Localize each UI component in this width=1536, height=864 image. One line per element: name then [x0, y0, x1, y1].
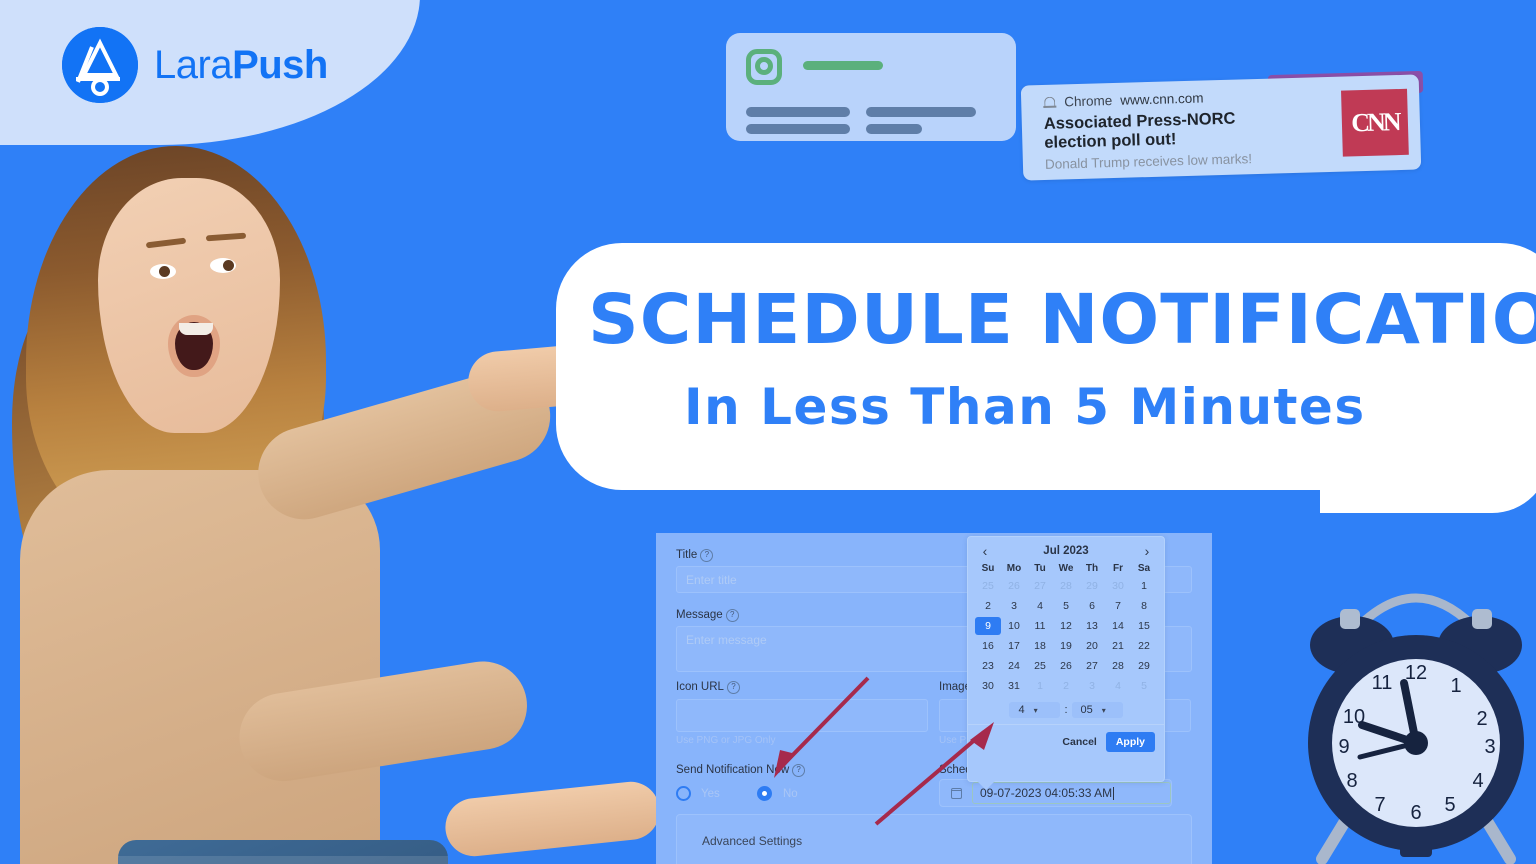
- icon-url-field-label: Icon URL?: [676, 681, 740, 694]
- weekday-sa: Sa: [1131, 560, 1157, 577]
- day-cell[interactable]: 2: [975, 597, 1001, 615]
- svg-text:1: 1: [1450, 675, 1461, 697]
- hero-bubble-tail: [1320, 455, 1536, 513]
- day-cell[interactable]: 22: [1131, 637, 1157, 655]
- cancel-button[interactable]: Cancel: [1062, 736, 1096, 748]
- hour-select[interactable]: 4▾: [1009, 702, 1060, 718]
- day-cell[interactable]: 27: [1027, 577, 1053, 595]
- chevron-down-icon: ▾: [1102, 706, 1106, 715]
- day-cell[interactable]: 16: [975, 637, 1001, 655]
- help-circle-icon[interactable]: ?: [726, 609, 739, 622]
- weekday-fr: Fr: [1105, 560, 1131, 577]
- chevron-down-icon: ▾: [1034, 706, 1038, 715]
- excited-woman-photo: [0, 140, 510, 864]
- larapush-logo-icon: [62, 27, 138, 103]
- advanced-settings-label: Advanced Settings: [702, 834, 802, 848]
- help-circle-icon[interactable]: ?: [700, 549, 713, 562]
- bell-icon: [1043, 95, 1056, 110]
- day-cell[interactable]: 17: [1001, 637, 1027, 655]
- datepicker-month-label: Jul 2023: [1043, 545, 1088, 557]
- placeholder-title-bar: [803, 61, 883, 70]
- day-cell[interactable]: 11: [1027, 617, 1053, 635]
- weekday-we: We: [1053, 560, 1079, 577]
- time-separator: :: [1064, 704, 1067, 716]
- message-field-label: Message?: [676, 609, 739, 622]
- svg-text:4: 4: [1472, 770, 1483, 792]
- day-cell[interactable]: 7: [1105, 597, 1131, 615]
- radio-send-now-no[interactable]: [757, 786, 772, 801]
- day-cell[interactable]: 9: [975, 617, 1001, 635]
- hero-headline: SCHEDULE NOTIFICATIONS: [588, 286, 1486, 355]
- day-cell[interactable]: 28: [1105, 657, 1131, 675]
- title-input-placeholder: Enter title: [686, 573, 737, 587]
- arrow-to-datepicker: [866, 718, 1001, 833]
- svg-text:6: 6: [1410, 802, 1421, 824]
- svg-text:5: 5: [1444, 794, 1455, 816]
- day-cell[interactable]: 5: [1131, 677, 1157, 695]
- day-cell[interactable]: 26: [1053, 657, 1079, 675]
- brand-name-bold: Push: [232, 43, 328, 87]
- help-circle-icon[interactable]: ?: [727, 681, 740, 694]
- brand-logo[interactable]: LaraPush: [62, 27, 328, 103]
- day-cell[interactable]: 25: [975, 577, 1001, 595]
- weekday-su: Su: [975, 560, 1001, 577]
- brand-name-light: Lara: [154, 43, 232, 87]
- svg-text:11: 11: [1372, 672, 1393, 694]
- day-cell[interactable]: 30: [975, 677, 1001, 695]
- arrow-to-send-notification-now: [760, 670, 880, 785]
- poster-canvas: LaraPush Chrome www.: [0, 0, 1536, 864]
- day-cell[interactable]: 29: [1079, 577, 1105, 595]
- schedule-datetime-input[interactable]: 09-07-2023 04:05:33 AM: [972, 782, 1171, 804]
- day-cell[interactable]: 30: [1105, 577, 1131, 595]
- datepicker-day-grid[interactable]: 2526272829301234567891011121314151617181…: [968, 577, 1164, 695]
- day-cell[interactable]: 20: [1079, 637, 1105, 655]
- day-cell[interactable]: 29: [1131, 657, 1157, 675]
- svg-text:8: 8: [1346, 770, 1357, 792]
- day-cell[interactable]: 1: [1027, 677, 1053, 695]
- day-cell[interactable]: 4: [1027, 597, 1053, 615]
- weekday-mo: Mo: [1001, 560, 1027, 577]
- alarm-clock-icon: 12 1 2 3 4 5 6 7 8 9 10 11: [1300, 575, 1532, 864]
- cnn-notification-card[interactable]: Chrome www.cnn.com Associated Press-NORC…: [1021, 74, 1421, 180]
- notification-source: Chrome: [1064, 93, 1112, 109]
- svg-text:3: 3: [1484, 736, 1495, 758]
- datepicker-header: ‹ Jul 2023 ›: [968, 537, 1164, 560]
- title-field-label: Title?: [676, 549, 713, 562]
- weekday-th: Th: [1079, 560, 1105, 577]
- day-cell[interactable]: 10: [1001, 617, 1027, 635]
- radio-send-now-yes[interactable]: [676, 786, 691, 801]
- day-cell[interactable]: 18: [1027, 637, 1053, 655]
- notification-card-placeholder: [726, 33, 1016, 141]
- day-cell[interactable]: 3: [1079, 677, 1105, 695]
- day-cell[interactable]: 31: [1001, 677, 1027, 695]
- day-cell[interactable]: 21: [1105, 637, 1131, 655]
- cnn-logo-icon: CNN: [1341, 89, 1409, 157]
- day-cell[interactable]: 1: [1131, 577, 1157, 595]
- cnn-logo-text: CNN: [1351, 107, 1399, 138]
- minute-select[interactable]: 05▾: [1072, 702, 1123, 718]
- chevron-left-icon[interactable]: ‹: [978, 544, 992, 558]
- day-cell[interactable]: 25: [1027, 657, 1053, 675]
- day-cell[interactable]: 15: [1131, 617, 1157, 635]
- radio-yes-label: Yes: [701, 788, 720, 800]
- day-cell[interactable]: 26: [1001, 577, 1027, 595]
- notification-url: www.cnn.com: [1120, 90, 1204, 107]
- day-cell[interactable]: 2: [1053, 677, 1079, 695]
- chat-bubble-icon: [746, 49, 782, 85]
- day-cell[interactable]: 5: [1053, 597, 1079, 615]
- day-cell[interactable]: 12: [1053, 617, 1079, 635]
- day-cell[interactable]: 14: [1105, 617, 1131, 635]
- chevron-right-icon[interactable]: ›: [1140, 544, 1154, 558]
- day-cell[interactable]: 4: [1105, 677, 1131, 695]
- day-cell[interactable]: 28: [1053, 577, 1079, 595]
- notification-subtitle: Donald Trump receives low marks!: [1045, 151, 1252, 172]
- notification-source-row: Chrome www.cnn.com: [1043, 90, 1204, 109]
- datepicker-weekday-row: SuMoTuWeThFrSa: [968, 560, 1164, 577]
- day-cell[interactable]: 13: [1079, 617, 1105, 635]
- notification-title: Associated Press-NORC election poll out!: [1044, 108, 1300, 154]
- day-cell[interactable]: 6: [1079, 597, 1105, 615]
- day-cell[interactable]: 3: [1001, 597, 1027, 615]
- svg-text:9: 9: [1338, 736, 1349, 758]
- message-input-placeholder: Enter message: [686, 633, 767, 647]
- apply-button[interactable]: Apply: [1106, 732, 1155, 752]
- svg-text:2: 2: [1476, 708, 1487, 730]
- svg-text:7: 7: [1374, 794, 1385, 816]
- day-cell[interactable]: 19: [1053, 637, 1079, 655]
- brand-name: LaraPush: [154, 45, 328, 85]
- weekday-tu: Tu: [1027, 560, 1053, 577]
- day-cell[interactable]: 24: [1001, 657, 1027, 675]
- hero-subheadline: In Less Than 5 Minutes: [684, 382, 1366, 432]
- radio-no-label: No: [783, 788, 798, 800]
- svg-text:12: 12: [1405, 662, 1427, 684]
- day-cell[interactable]: 27: [1079, 657, 1105, 675]
- day-cell[interactable]: 23: [975, 657, 1001, 675]
- day-cell[interactable]: 8: [1131, 597, 1157, 615]
